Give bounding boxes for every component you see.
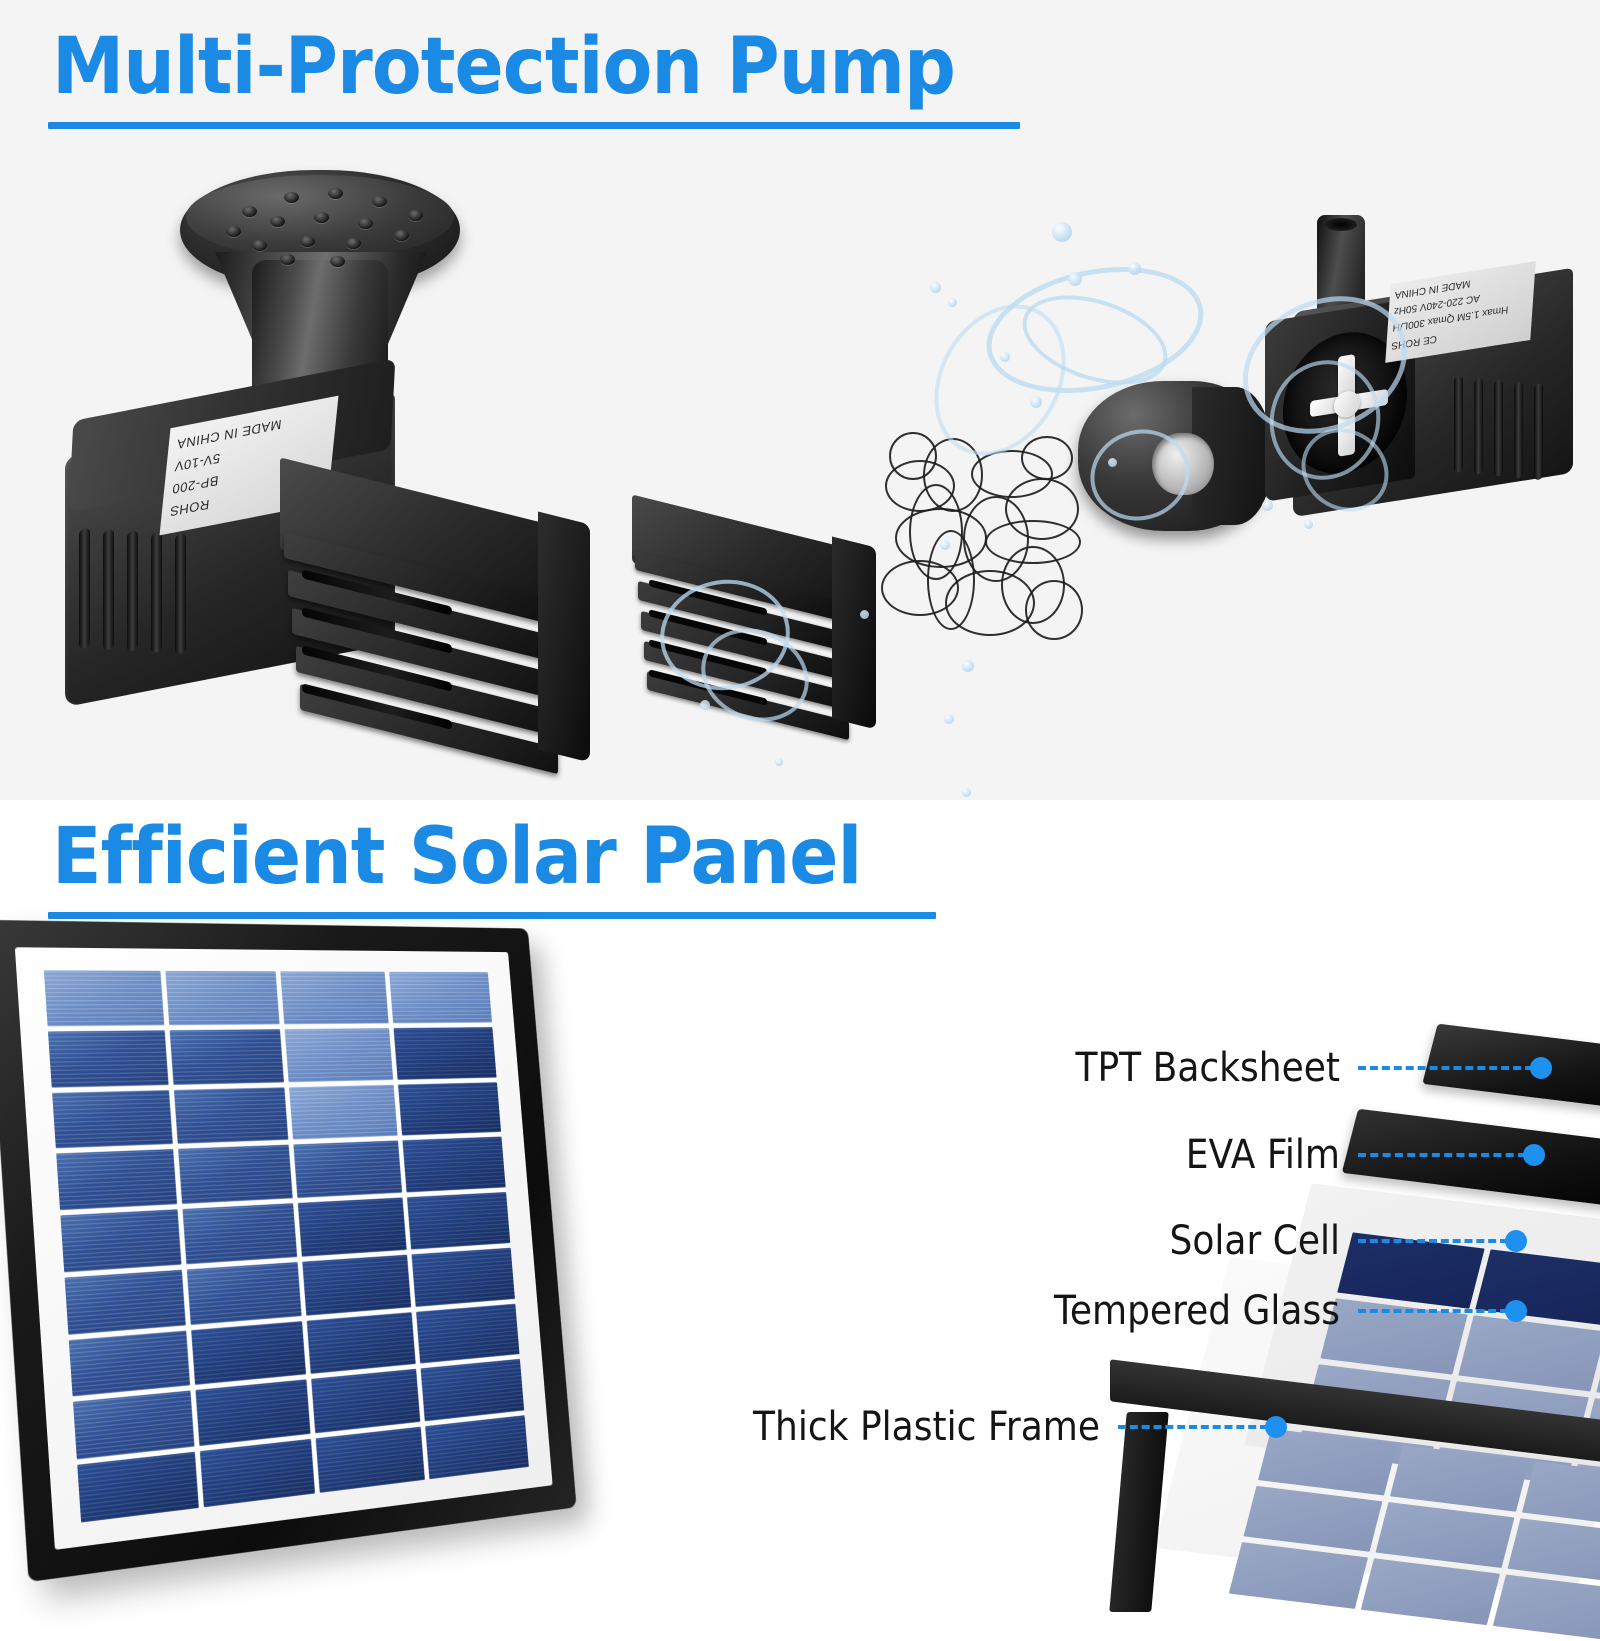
callout-label-tpt-backsheet: TPT Backsheet xyxy=(710,1045,1340,1091)
callout-leader-line xyxy=(1358,1309,1508,1313)
callout-endpoint-dot xyxy=(1265,1416,1287,1438)
callout-label-thick-plastic-frame: Thick Plastic Frame xyxy=(470,1404,1100,1450)
pump-filter-cage-small xyxy=(632,520,877,750)
pump-assembly-image: MADE IN CHINA 5V-10V BP-200 ROHS xyxy=(55,160,615,760)
pump-impeller-cover xyxy=(1060,375,1280,535)
pump-section-heading: Multi-Protection Pump xyxy=(52,22,955,112)
callout-endpoint-dot xyxy=(1505,1230,1527,1252)
callout-label-eva-film: EVA Film xyxy=(710,1132,1340,1178)
infographic-stage: Multi-Protection Pump xyxy=(0,0,1600,1600)
callout-solar-cell: Solar Cell xyxy=(640,1218,1527,1264)
callout-thick-plastic-frame: Thick Plastic Frame xyxy=(400,1404,1287,1450)
callout-label-solar-cell: Solar Cell xyxy=(710,1218,1340,1264)
callout-endpoint-dot xyxy=(1505,1300,1527,1322)
callout-leader-line xyxy=(1118,1425,1268,1429)
callout-leader-line xyxy=(1358,1153,1526,1157)
callout-tpt-backsheet: TPT Backsheet xyxy=(640,1045,1552,1091)
callout-leader-line xyxy=(1358,1239,1508,1243)
callout-label-tempered-glass: Tempered Glass xyxy=(710,1288,1340,1334)
pump-motor-ribs xyxy=(1450,356,1560,493)
callout-endpoint-dot xyxy=(1523,1144,1545,1166)
callout-endpoint-dot xyxy=(1530,1057,1552,1079)
callout-tempered-glass: Tempered Glass xyxy=(640,1288,1527,1334)
pump-impeller-blades xyxy=(1310,349,1388,461)
solar-heading-underline xyxy=(48,912,936,919)
pump-filter-cage-large xyxy=(280,490,590,790)
pump-heading-underline xyxy=(48,122,1020,129)
callout-eva-film: EVA Film xyxy=(640,1132,1545,1178)
solar-section-heading: Efficient Solar Panel xyxy=(52,812,861,902)
pump-motor-unit: MADE IN CHINA AC 220-240V 50Hz Hmax 1.5M… xyxy=(1255,215,1600,545)
callout-leader-line xyxy=(1358,1066,1533,1070)
filter-sponge-media xyxy=(875,430,1090,665)
